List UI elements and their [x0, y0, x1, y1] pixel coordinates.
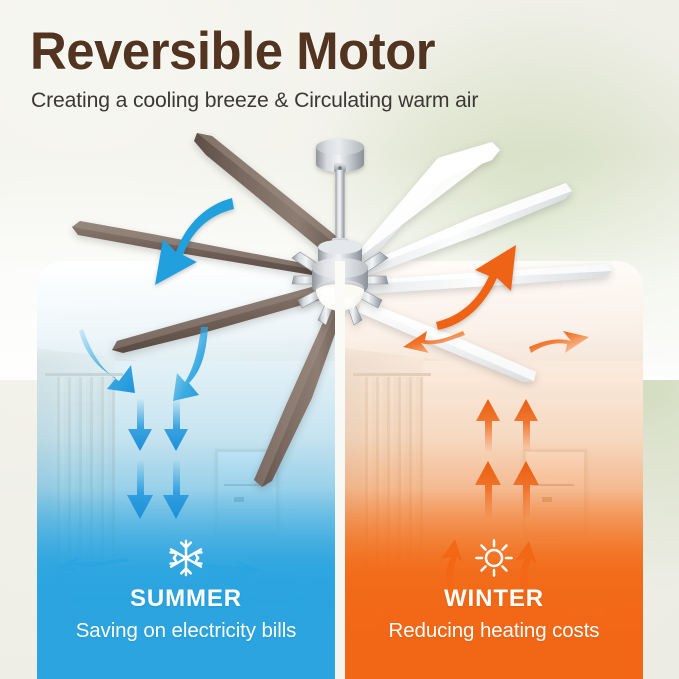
- page-title: Reversible Motor: [30, 24, 625, 80]
- page-subtitle: Creating a cooling breeze & Circulating …: [31, 88, 641, 113]
- infographic-poster: Reversible Motor Creating a cooling bree…: [0, 0, 679, 679]
- header: Reversible Motor Creating a cooling bree…: [30, 24, 650, 113]
